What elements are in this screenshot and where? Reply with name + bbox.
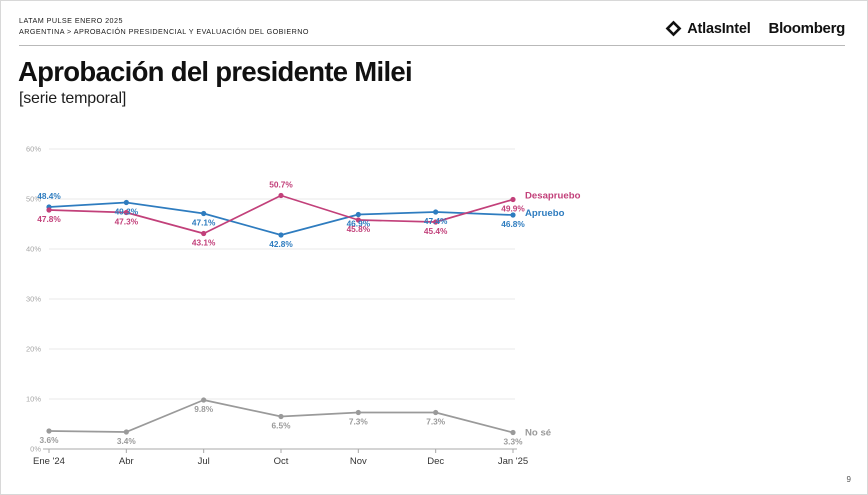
data-point[interactable] [201, 211, 206, 216]
breadcrumb: LATAM PULSE ENERO 2025 ARGENTINA > APROB… [19, 15, 309, 37]
data-point-label: 48.4% [37, 191, 61, 201]
x-axis-tick-label: Nov [350, 456, 367, 467]
data-point[interactable] [356, 410, 361, 415]
data-point-label: 45.8% [347, 224, 371, 234]
data-point-label: 7.3% [349, 417, 369, 427]
data-point[interactable] [278, 232, 283, 237]
kicker-line-1: LATAM PULSE ENERO 2025 [19, 15, 309, 26]
x-axis-tick-label: Ene '24 [33, 456, 65, 467]
data-point-label: 47.8% [37, 214, 61, 224]
data-point-label: 3.6% [40, 435, 60, 445]
data-point-label: 6.5% [272, 421, 292, 431]
data-point[interactable] [46, 207, 51, 212]
x-axis-tick-label: Abr [119, 456, 134, 467]
data-point-label: 3.4% [117, 436, 137, 446]
data-point-label: 3.3% [504, 437, 524, 447]
x-axis-tick-label: Dec [427, 456, 444, 467]
logo-group: AtlasIntel Bloomberg [665, 20, 845, 37]
atlasintel-logo-text: AtlasIntel [687, 21, 750, 37]
data-point[interactable] [510, 430, 515, 435]
bloomberg-logo-text: Bloomberg [769, 20, 845, 37]
atlasintel-logo: AtlasIntel [665, 20, 750, 37]
series-legend-label: No sé [525, 428, 551, 439]
x-axis-tick-label: Jan '25 [498, 456, 528, 467]
data-point[interactable] [278, 193, 283, 198]
kicker-line-2: ARGENTINA > APROBACIÓN PRESIDENCIAL Y EV… [19, 26, 309, 37]
y-axis-tick-label: 0% [30, 445, 41, 454]
data-point[interactable] [124, 200, 129, 205]
y-axis-tick-label: 60% [26, 145, 41, 154]
data-point-label: 49.9% [501, 204, 525, 214]
y-axis-tick-label: 10% [26, 395, 41, 404]
data-point-label: 7.3% [426, 417, 446, 427]
data-point-label: 45.4% [424, 226, 448, 236]
atlas-diamond-icon [665, 20, 682, 37]
page-subtitle: [serie temporal] [19, 90, 126, 108]
page-title: Aprobación del presidente Milei [18, 56, 412, 88]
data-point-label: 47.3% [115, 217, 139, 227]
y-axis-tick-label: 40% [26, 245, 41, 254]
slide-canvas: LATAM PULSE ENERO 2025 ARGENTINA > APROB… [0, 0, 868, 495]
data-point[interactable] [201, 231, 206, 236]
data-point-label: 42.8% [269, 239, 293, 249]
data-point[interactable] [124, 429, 129, 434]
data-point[interactable] [433, 209, 438, 214]
data-point[interactable] [510, 197, 515, 202]
data-point[interactable] [278, 414, 283, 419]
data-point-label: 47.1% [192, 218, 216, 228]
page-number: 9 [847, 475, 851, 484]
x-axis-tick-label: Jul [198, 456, 210, 467]
data-point[interactable] [201, 397, 206, 402]
data-point-label: 43.1% [192, 238, 216, 248]
data-point[interactable] [433, 410, 438, 415]
data-point-label: 46.8% [501, 219, 525, 229]
header-divider [19, 45, 845, 46]
series-legend-label: Desapruebo [525, 191, 581, 202]
line-chart: 0%10%20%30%40%50%60%Ene '24AbrJulOctNovD… [1, 131, 868, 476]
y-axis-tick-label: 20% [26, 345, 41, 354]
data-point-label: 50.7% [269, 180, 293, 190]
series-legend-label: Apruebo [525, 208, 565, 219]
data-point-label: 47.4% [424, 216, 448, 226]
data-point[interactable] [356, 212, 361, 217]
x-axis-tick-label: Oct [274, 456, 289, 467]
y-axis-tick-label: 30% [26, 295, 41, 304]
data-point-label: 49.3% [115, 207, 139, 217]
data-point[interactable] [46, 428, 51, 433]
data-point-label: 9.8% [194, 404, 214, 414]
